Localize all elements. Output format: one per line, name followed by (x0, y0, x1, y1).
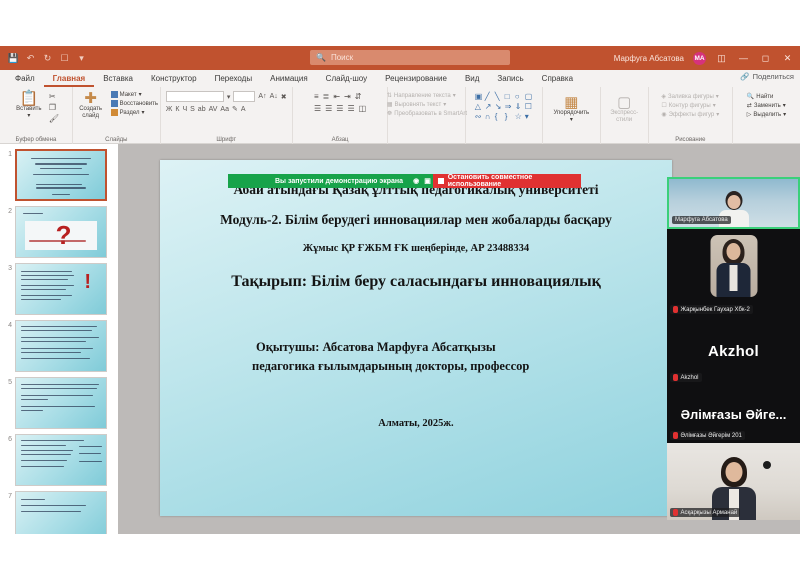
tab-file[interactable]: Файл (6, 70, 44, 87)
participant-name-badge: Akzhol (670, 373, 702, 382)
top-blank-strip (0, 0, 800, 46)
quick-access-toolbar: 💾 ↶ ↻ ☐ ▾ (0, 46, 87, 70)
start-presentation-icon[interactable]: ☐ (59, 53, 70, 64)
customize-qat-icon[interactable]: ▾ (76, 53, 87, 64)
quick-styles-icon: ▢ (617, 95, 631, 110)
screen-share-message: Вы запустили демонстрацию экрана (275, 178, 403, 185)
quick-styles-label: Экспресс-стили (608, 110, 640, 124)
bold-button[interactable]: Ж (166, 106, 172, 113)
thumbnail-number: 1 (2, 149, 15, 158)
shape-fill-button[interactable]: ◈ Заливка фигуры ▾ (661, 93, 719, 100)
arrange-label: Упорядочить (553, 110, 589, 117)
chevron-down-icon: ▾ (570, 117, 573, 124)
thumbnail-number: 2 (2, 206, 15, 215)
group-label-slides: Слайды (73, 137, 160, 143)
layout-label: Макет (120, 92, 137, 98)
grow-font-icon[interactable]: A↑ (258, 93, 266, 100)
font-name-input[interactable] (166, 91, 224, 102)
list-item[interactable]: 2 ? (0, 201, 118, 258)
group-label-font: Шрифт (161, 137, 292, 143)
text-direction-label: Направление текста (394, 93, 451, 99)
ribbon-tabs: Файл Главная Вставка Конструктор Переход… (0, 70, 800, 87)
chevron-down-icon: ▾ (27, 113, 30, 120)
align-left-icon[interactable]: ☰ (314, 104, 321, 113)
slide-text-line-7[interactable]: Алматы, 2025ж. (160, 418, 672, 429)
participant-name: Жарқынбек Гаухар Хбк-2 (681, 307, 750, 313)
list-item[interactable]: 7 (0, 486, 118, 534)
shape-textbox-icon[interactable]: ▣ (475, 92, 484, 101)
participant-display-name: Akzhol (708, 343, 759, 360)
slide-thumbnail-2[interactable]: ? (15, 206, 107, 258)
save-icon[interactable]: 💾 (8, 53, 19, 64)
slide-text-line-6[interactable]: педагогика ғылымдарының докторы, професс… (252, 359, 672, 374)
participant-tile-1[interactable]: Марфуга Абсатова (667, 177, 800, 229)
align-text-label: Выровнять текст (395, 102, 442, 108)
text-highlight-icon[interactable]: ✎ (232, 105, 238, 113)
line-spacing-icon[interactable]: ⇵ (355, 92, 362, 101)
ribbon-group-quickstyles: ▢ Экспресс-стили (601, 87, 649, 144)
text-direction-button[interactable]: ⇅ Направление текста ▾ (387, 92, 467, 99)
thumbnail-number: 4 (2, 320, 15, 329)
section-button[interactable]: Раздел ▾ (111, 109, 158, 116)
layout-icon (111, 91, 118, 98)
layout-button[interactable]: Макет ▾ (111, 91, 158, 98)
stop-sharing-label: Остановить совместное использование (448, 174, 581, 188)
participant-photo (710, 235, 757, 297)
clipboard-icon: 📋 (19, 91, 38, 106)
participant-name: Akzhol (681, 375, 699, 381)
share-button[interactable]: 🔗 Поделиться (740, 72, 794, 81)
search-input[interactable]: 🔍 Поиск (310, 50, 510, 65)
undo-icon[interactable]: ↶ (25, 53, 36, 64)
screen-share-banner: Вы запустили демонстрацию экрана ◉ ▣ AA (228, 174, 450, 188)
select-label: Выделить (753, 112, 781, 118)
mic-muted-icon (673, 306, 678, 313)
replace-button[interactable]: ⇄ Заменить ▾ (747, 102, 786, 109)
thumbnail-number: 5 (2, 377, 15, 386)
account-name[interactable]: Марфуга Абсатова (614, 54, 684, 63)
slide-thumbnail-6[interactable] (15, 434, 107, 486)
title-bar: 💾 ↶ ↻ ☐ ▾ Тема 1. Модуль 2. - PowerPoint… (0, 46, 800, 70)
ribbon-group-clipboard: 📋 Вставить ▾ ✂ ❐ 🖌 Буфер обмена (0, 87, 73, 144)
slide-thumbnail-3[interactable]: ! (15, 263, 107, 315)
decrease-indent-icon[interactable]: ⇤ (333, 92, 340, 101)
copy-icon[interactable]: ❐ (49, 103, 59, 112)
stop-sharing-button[interactable]: Остановить совместное использование (433, 174, 581, 188)
shape-roundrect-icon[interactable]: ▢ (525, 92, 534, 101)
mute-toggle-icon[interactable]: ◉ (413, 177, 419, 185)
share-label: Поделиться (753, 72, 794, 81)
bullets-icon[interactable]: ≡ (314, 92, 319, 101)
shape-callout-icon[interactable]: ☐ (525, 102, 534, 111)
participant-tile-5[interactable]: Асқарқызы Арманай (667, 443, 800, 520)
slide-thumbnail-pane[interactable]: 1 2 ? (0, 144, 118, 534)
zoom-video-panel[interactable]: Марфуга Абсатова Жарқынбек Гаухар Хбк-2 … (667, 177, 800, 520)
tab-review[interactable]: Рецензирование (376, 70, 456, 87)
current-slide[interactable]: Абай атындағы Қазақ ұлттық педагогикалық… (160, 160, 672, 516)
strikethrough-button[interactable]: ab (198, 106, 206, 113)
participant-name: Марфуга Абсатова (675, 217, 728, 223)
section-label: Раздел (120, 110, 140, 116)
participant-name-badge: Асқарқызы Арманай (670, 508, 740, 517)
arrange-button[interactable]: ▦ Упорядочить ▾ (555, 89, 587, 124)
minimize-button[interactable]: — (737, 53, 750, 63)
ribbon-group-arrange: ▦ Упорядочить ▾ (543, 87, 601, 144)
shape-effects-button[interactable]: ◉ Эффекты фигур ▾ (661, 111, 719, 118)
thumbnail-number: 3 (2, 263, 15, 272)
chevron-down-icon[interactable]: ▾ (227, 93, 231, 101)
shrink-font-icon[interactable]: A↓ (270, 93, 278, 100)
redo-icon[interactable]: ↻ (42, 53, 53, 64)
italic-button[interactable]: К (175, 106, 179, 113)
align-center-icon[interactable]: ☰ (325, 104, 332, 113)
shadow-button[interactable]: S (190, 106, 195, 113)
restore-button[interactable]: ◻ (759, 53, 772, 64)
participant-display-name: Әлімғазы Әйге... (681, 407, 787, 422)
clear-formatting-icon[interactable]: ✖ (281, 93, 287, 101)
group-label-clipboard: Буфер обмена (0, 137, 72, 143)
paste-button[interactable]: 📋 Вставить ▾ (13, 91, 45, 120)
search-placeholder: Поиск (331, 53, 353, 62)
shapes-more-icon[interactable]: ▾ (525, 112, 534, 121)
slide-thumbnail-5[interactable] (15, 377, 107, 429)
select-button[interactable]: ▷ Выделить ▾ (747, 111, 786, 118)
font-color-icon[interactable]: A (241, 106, 246, 113)
shape-rightarrow-icon[interactable]: ⇒ (505, 102, 514, 111)
tab-slideshow[interactable]: Слайд-шоу (317, 70, 376, 87)
video-toggle-icon[interactable]: ▣ (424, 177, 431, 185)
ribbon-group-paragraph-extra: ⇅ Направление текста ▾ ▦ Выровнять текст… (388, 87, 466, 144)
shape-brace-left-icon[interactable]: { (495, 112, 504, 121)
participant-name-badge: Әлімғазы Әйгерім 201 (670, 431, 745, 440)
underline-button[interactable]: Ч (182, 106, 187, 113)
ribbon-group-font: ▾ A↑ A↓ ✖ Ж К Ч S ab AV Aa ✎ (161, 87, 293, 144)
tab-help[interactable]: Справка (533, 70, 582, 87)
slide-text-line-3[interactable]: Жұмыс ҚР ҒЖБМ ҒК шеңберінде, АР 23488334 (160, 243, 672, 254)
shape-oval-icon[interactable]: ○ (515, 92, 524, 101)
close-button[interactable]: ✕ (781, 53, 794, 64)
shape-brace-right-icon[interactable]: } (505, 112, 514, 121)
align-text-button[interactable]: ▦ Выровнять текст ▾ (387, 101, 467, 108)
character-spacing-button[interactable]: AV (209, 106, 218, 113)
columns-icon[interactable]: ◫ (359, 104, 367, 113)
tab-transitions[interactable]: Переходы (206, 70, 262, 87)
shape-outline-label: Контур фигуры (669, 103, 711, 109)
slide-thumbnail-4[interactable] (15, 320, 107, 372)
slide-text-line-5[interactable]: Оқытушы: Абсатова Марфуға Абсатқызы (256, 340, 672, 355)
shape-arrow1-icon[interactable]: ↗ (485, 102, 494, 111)
tab-insert[interactable]: Вставка (94, 70, 142, 87)
reset-label: Восстановить (120, 101, 158, 107)
share-icon: 🔗 (740, 72, 749, 81)
slide-text-line-4[interactable]: Тақырып: Білім беру саласындағы инноваци… (160, 273, 672, 291)
shape-triangle-icon[interactable]: △ (475, 102, 484, 111)
list-item[interactable]: 1 (0, 144, 118, 201)
powerpoint-window: 💾 ↶ ↻ ☐ ▾ Тема 1. Модуль 2. - PowerPoint… (0, 46, 800, 534)
group-label-paragraph: Абзац (293, 137, 388, 143)
stop-icon (438, 178, 444, 184)
participant-name-badge: Марфуга Абсатова (672, 216, 731, 224)
ribbon-group-drawing: ◈ Заливка фигуры ▾ ☐ Контур фигуры ▾ ◉ Э… (649, 87, 733, 144)
shape-downarrow-icon[interactable]: ⇓ (515, 102, 524, 111)
increase-indent-icon[interactable]: ⇥ (344, 92, 351, 101)
list-item[interactable]: 5 (0, 372, 118, 429)
convert-to-smartart-button[interactable]: ☸ Преобразовать в SmartArt (387, 110, 467, 117)
participant-tile-2[interactable]: Жарқынбек Гаухар Хбк-2 (667, 229, 800, 317)
app-root: 💾 ↶ ↻ ☐ ▾ Тема 1. Модуль 2. - PowerPoint… (0, 0, 800, 580)
format-painter-icon[interactable]: 🖌 (49, 114, 59, 123)
change-case-button[interactable]: Aa (220, 106, 229, 113)
align-right-icon[interactable]: ☰ (336, 104, 343, 113)
section-icon (111, 109, 118, 116)
shape-star-icon[interactable]: ☆ (515, 112, 524, 121)
bottom-blank-strip (0, 534, 800, 580)
arrange-icon: ▦ (564, 95, 578, 110)
quick-styles-button[interactable]: ▢ Экспресс-стили (608, 89, 640, 124)
participant-tile-4[interactable]: Әлімғазы Әйге... Әлімғазы Әйгерім 201 (667, 385, 800, 443)
shape-rect-icon[interactable]: □ (505, 92, 514, 101)
slide-text-line-2[interactable]: Модуль-2. Білім берудегі инновациялар ме… (160, 212, 672, 228)
ribbon-group-paragraph: ≡ ≣ ⇤ ⇥ ⇵ ☰ ☰ ☰ ☰ ◫ Абзац (293, 87, 389, 144)
tab-animations[interactable]: Анимация (261, 70, 317, 87)
titlebar-right: Марфуга Абсатова МА ◫ — ◻ ✕ (614, 46, 794, 70)
shape-line2-icon[interactable]: ╲ (495, 92, 504, 101)
list-item[interactable]: 4 (0, 315, 118, 372)
ribbon-display-options-icon[interactable]: ◫ (715, 53, 728, 64)
mic-muted-icon (673, 509, 678, 516)
find-label: Найти (756, 94, 773, 100)
participant-name: Асқарқызы Арманай (681, 510, 738, 516)
shape-line-icon[interactable]: ╱ (485, 92, 494, 101)
ribbon-group-editing: 🔍 Найти ⇄ Заменить ▾ ▷ Выделить ▾ (733, 87, 800, 144)
list-item[interactable]: 3 ! (0, 258, 118, 315)
group-label-drawing: Рисование (649, 137, 732, 143)
numbering-icon[interactable]: ≣ (323, 92, 330, 101)
ribbon-group-slides: ✚ Создать слайд Макет ▾ Восстановить Раз… (73, 87, 161, 144)
shape-effects-label: Эффекты фигур (669, 112, 715, 118)
slide-thumbnail-1[interactable] (15, 149, 107, 201)
list-item[interactable]: 6 (0, 429, 118, 486)
find-button[interactable]: 🔍 Найти (747, 93, 786, 100)
slide-thumbnail-7[interactable] (15, 491, 107, 534)
participant-tile-3[interactable]: Akzhol Akzhol (667, 317, 800, 385)
shape-curve-icon[interactable]: ∾ (475, 112, 484, 121)
thumbnail-number: 6 (2, 434, 15, 443)
new-slide-label: Создать слайд (75, 106, 107, 120)
new-slide-button[interactable]: ✚ Создать слайд (75, 91, 107, 120)
shape-fill-label: Заливка фигуры (668, 94, 714, 100)
ribbon-group-shapes: ▣ ╱ ╲ □ ○ ▢ △ ↗ ↘ ⇒ ⇓ ☐ ∾ ∩ { } ☆ (466, 87, 543, 144)
replace-label: Заменить (754, 103, 781, 109)
avatar[interactable]: МА (693, 52, 706, 65)
shape-arrow2-icon[interactable]: ↘ (495, 102, 504, 111)
smartart-label: Преобразовать в SmartArt (394, 111, 467, 117)
reset-icon (111, 100, 118, 107)
cut-icon[interactable]: ✂ (49, 92, 59, 101)
mic-muted-icon (673, 432, 678, 439)
reset-button[interactable]: Восстановить (111, 100, 158, 107)
search-icon: 🔍 (316, 53, 326, 62)
participant-name: Әлімғазы Әйгерім 201 (681, 433, 742, 439)
mic-muted-icon (673, 374, 678, 381)
tab-record[interactable]: Запись (488, 70, 532, 87)
font-size-input[interactable] (233, 91, 255, 102)
new-slide-icon: ✚ (84, 91, 97, 106)
participant-name-badge: Жарқынбек Гаухар Хбк-2 (670, 305, 753, 314)
shape-arc-icon[interactable]: ∩ (485, 112, 494, 121)
paste-label: Вставить (16, 106, 41, 113)
tab-design[interactable]: Конструктор (142, 70, 206, 87)
thumbnail-number: 7 (2, 491, 15, 500)
justify-icon[interactable]: ☰ (347, 104, 354, 113)
shape-outline-button[interactable]: ☐ Контур фигуры ▾ (661, 102, 719, 109)
tab-view[interactable]: Вид (456, 70, 488, 87)
tab-home[interactable]: Главная (44, 70, 95, 87)
ribbon-body: 📋 Вставить ▾ ✂ ❐ 🖌 Буфер обмена ✚ (0, 87, 800, 144)
